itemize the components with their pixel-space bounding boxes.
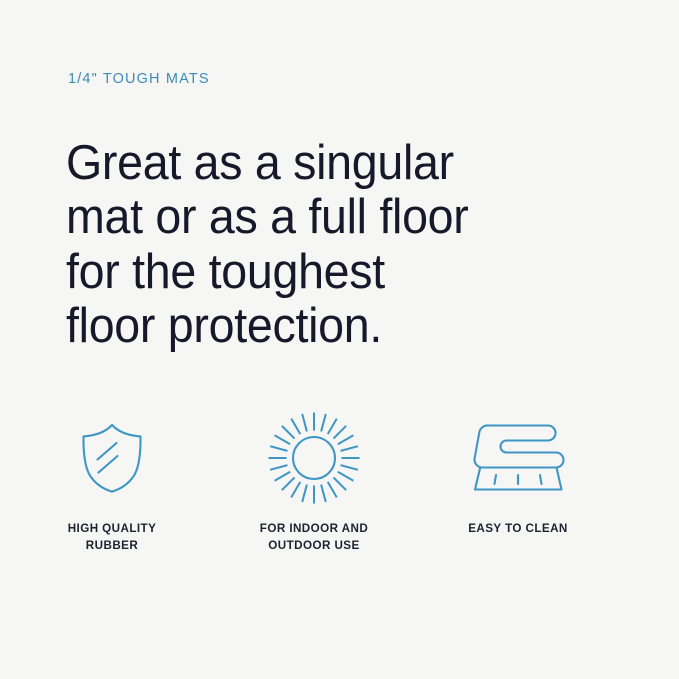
feature-caption: EASY TO CLEAN: [429, 520, 608, 537]
feature-caption-line-2: OUTDOOR USE: [225, 537, 404, 554]
feature-caption-line-2: RUBBER: [23, 537, 202, 554]
headline-line-4: floor protection.: [66, 299, 560, 354]
shield-icon: [17, 412, 207, 504]
feature-caption-line-1: FOR INDOOR AND: [225, 520, 404, 537]
headline-line-2: mat or as a full floor: [66, 190, 560, 245]
feature-item-easy-to-clean: EASY TO CLEAN: [423, 412, 613, 537]
feature-caption-line-1: HIGH QUALITY: [23, 520, 202, 537]
product-feature-banner: 1/4" TOUGH MATS Great as a singular mat …: [0, 0, 679, 679]
feature-caption: FOR INDOOR AND OUTDOOR USE: [225, 520, 404, 553]
eyebrow-label: 1/4" TOUGH MATS: [68, 69, 210, 89]
headline-line-3: for the toughest: [66, 245, 560, 300]
feature-caption-line-1: EASY TO CLEAN: [429, 520, 608, 537]
headline-line-1: Great as a singular: [66, 136, 560, 191]
feature-item-high-quality-rubber: HIGH QUALITY RUBBER: [17, 412, 207, 553]
feature-item-indoor-outdoor: FOR INDOOR AND OUTDOOR USE: [219, 412, 409, 553]
feature-caption: HIGH QUALITY RUBBER: [23, 520, 202, 553]
sun-icon: [219, 412, 409, 504]
page-title: Great as a singular mat or as a full flo…: [66, 136, 560, 354]
feature-list: HIGH QUALITY RUBBER FOR INDOOR AND OUTDO…: [0, 412, 679, 582]
scrub-brush-icon: [423, 412, 613, 504]
